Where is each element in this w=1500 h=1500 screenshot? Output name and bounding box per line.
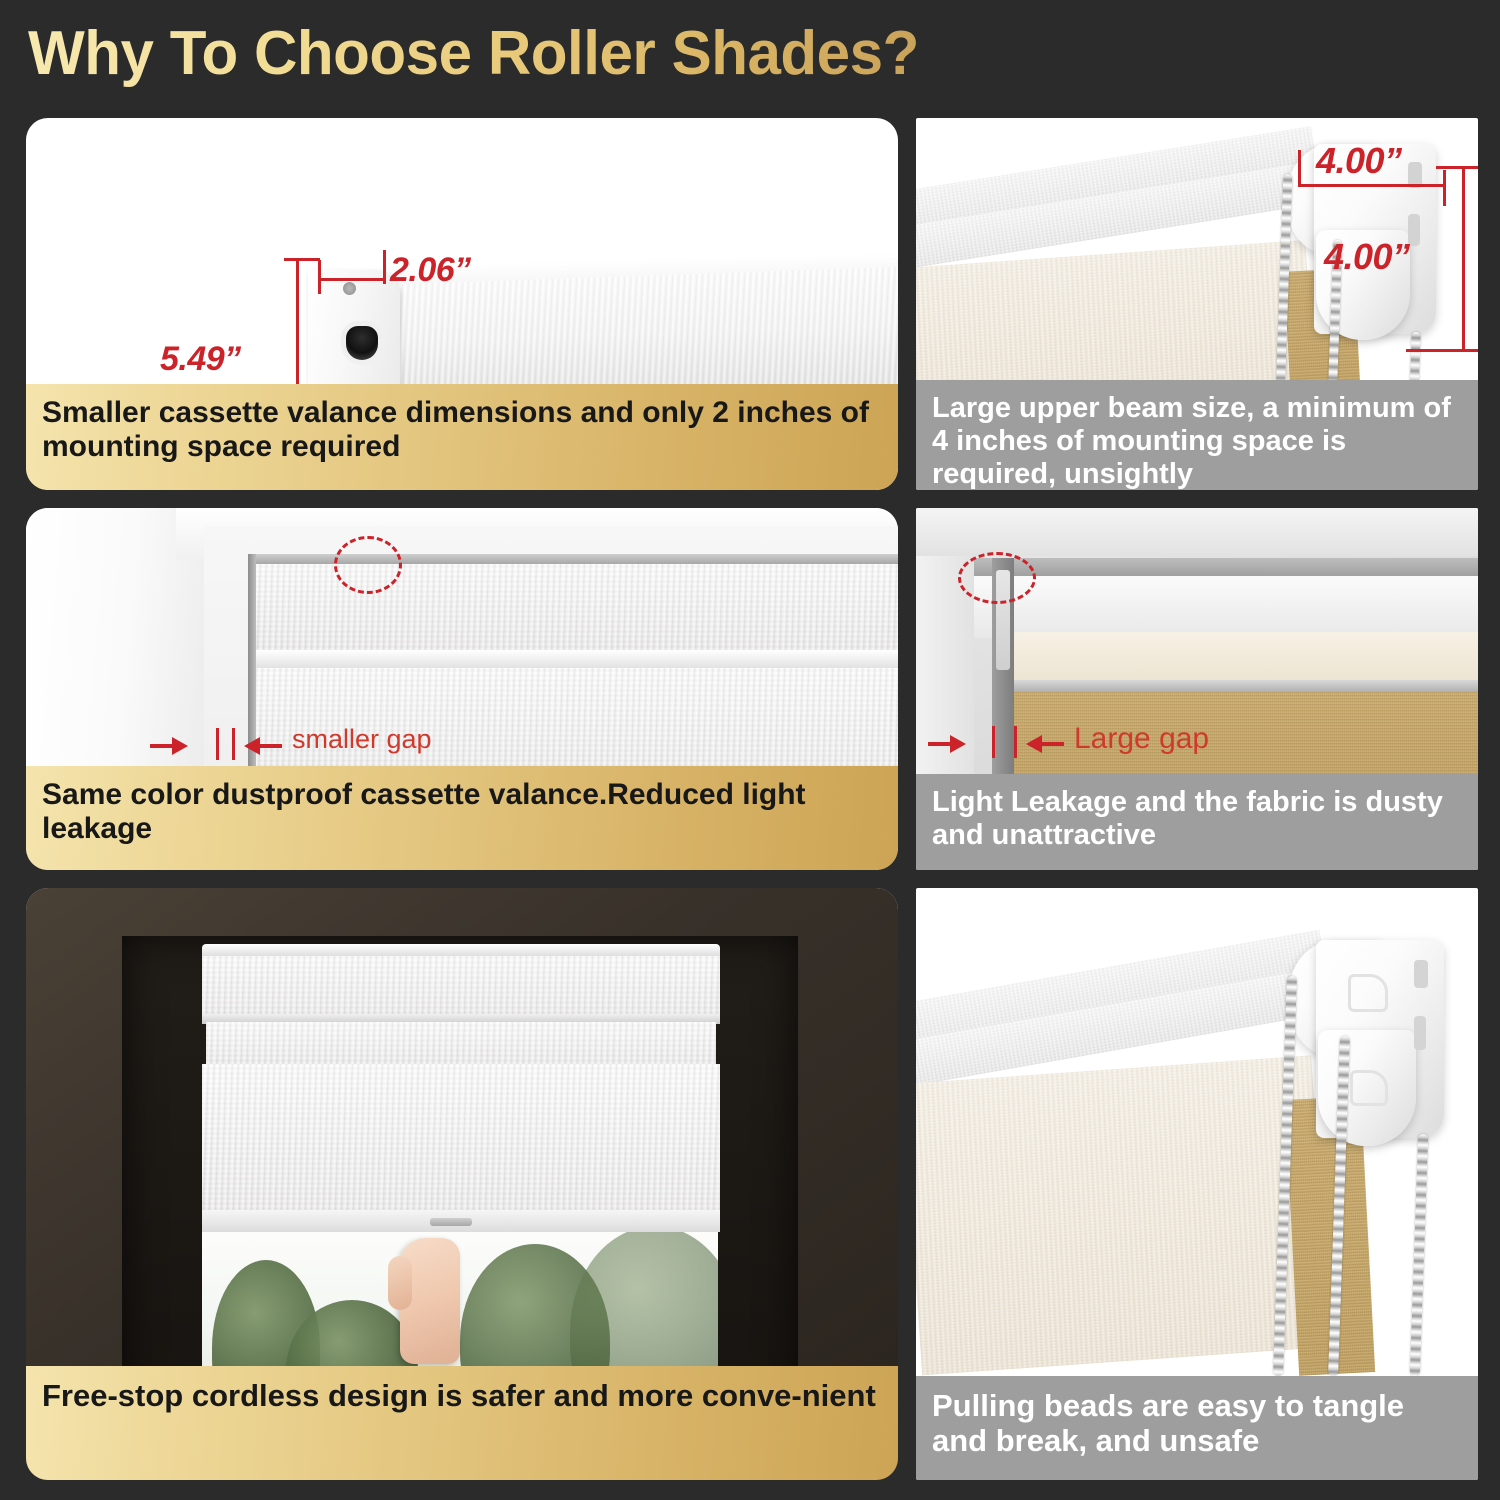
width-dimension-line bbox=[318, 278, 386, 281]
headrail-face bbox=[974, 576, 1478, 638]
bead-chain-right bbox=[1410, 1134, 1428, 1376]
highlight-circle-gap bbox=[334, 536, 402, 594]
gap-arrow-left-tail bbox=[928, 742, 950, 746]
width-dimension-line bbox=[1298, 184, 1446, 187]
panel-3-caption: Same color dustproof cassette valance.Re… bbox=[26, 766, 898, 870]
panel-pulling-beads: Pulling beads are easy to tangle and bre… bbox=[916, 888, 1478, 1480]
height-tick-top bbox=[1436, 166, 1478, 169]
gap-label: smaller gap bbox=[292, 724, 432, 755]
bottom-rail bbox=[1006, 680, 1478, 692]
width-tick-right bbox=[1443, 170, 1446, 206]
page-title: Why To Choose Roller Shades? bbox=[28, 18, 919, 89]
panel-large-gap: Large gap Light Leakage and the fabric i… bbox=[916, 508, 1478, 870]
gap-arrow-left-tail bbox=[150, 744, 172, 748]
panel-1-caption: Smaller cassette valance dimensions and … bbox=[26, 384, 898, 490]
gap-label: Large gap bbox=[1074, 722, 1209, 756]
cassette-roller-front bbox=[206, 1022, 716, 1066]
panel-2-caption: Large upper beam size, a minimum of 4 in… bbox=[916, 380, 1478, 490]
panel-cordless-design: Free-stop cordless design is safer and m… bbox=[26, 888, 898, 1480]
width-tick-right bbox=[383, 250, 386, 284]
panel-6-caption: Pulling beads are easy to tangle and bre… bbox=[916, 1376, 1478, 1480]
height-dimension-line bbox=[1462, 166, 1465, 352]
width-tick-left bbox=[318, 260, 321, 294]
panel-smaller-gap: smaller gap Same color dustproof cassett… bbox=[26, 508, 898, 870]
side-gap-shadow bbox=[248, 554, 256, 798]
highlight-circle-gap bbox=[958, 552, 1036, 604]
gap-tick-left bbox=[992, 726, 995, 758]
panel-5-caption: Free-stop cordless design is safer and m… bbox=[26, 1366, 898, 1480]
panel-smaller-cassette: 2.06” 5.49” Smaller cassette valance dim… bbox=[26, 118, 898, 490]
bracket-emboss-lower bbox=[1350, 1070, 1388, 1106]
gap-tick-right bbox=[1014, 726, 1017, 758]
hand-thumb bbox=[388, 1256, 412, 1310]
bracket-emboss-upper bbox=[1348, 974, 1388, 1012]
gap-arrow-right-head bbox=[1026, 735, 1042, 753]
shade-fabric-front bbox=[916, 1055, 1331, 1375]
height-dimension-label: 5.49” bbox=[160, 340, 241, 379]
panel-large-upper-beam: 4.00” 4.00” Large upper beam size, a min… bbox=[916, 118, 1478, 490]
gap-arrow-right-tail bbox=[260, 744, 282, 748]
height-tick-top bbox=[284, 258, 320, 261]
width-dimension-label: 2.06” bbox=[390, 251, 471, 290]
bracket-slot-lower bbox=[1414, 1016, 1426, 1050]
width-tick-left bbox=[1298, 150, 1301, 186]
end-cap-screw-top bbox=[343, 282, 356, 295]
bottom-rail-grip-tab bbox=[430, 1218, 472, 1226]
gap-arrow-right-head bbox=[244, 737, 260, 755]
height-tick-bottom bbox=[1406, 349, 1478, 352]
height-dimension-label: 4.00” bbox=[1324, 236, 1410, 278]
gap-tick-right bbox=[232, 728, 235, 760]
width-dimension-label: 4.00” bbox=[1316, 140, 1402, 182]
window-frame-top bbox=[916, 508, 1478, 556]
panel-4-caption: Light Leakage and the fabric is dusty an… bbox=[916, 774, 1478, 870]
cassette-valance-face bbox=[202, 956, 720, 1018]
gap-arrow-right-tail bbox=[1042, 742, 1064, 746]
shade-fabric-main bbox=[202, 1064, 720, 1224]
gap-tick-left bbox=[216, 728, 219, 760]
gap-arrow-left-head bbox=[950, 735, 966, 753]
end-cap-socket-hole bbox=[346, 326, 378, 360]
gap-arrow-left-head bbox=[172, 737, 188, 755]
valance-cream-band bbox=[1012, 632, 1478, 684]
valance-bottom-rail bbox=[254, 650, 898, 668]
bracket-slot-upper bbox=[1414, 960, 1428, 988]
